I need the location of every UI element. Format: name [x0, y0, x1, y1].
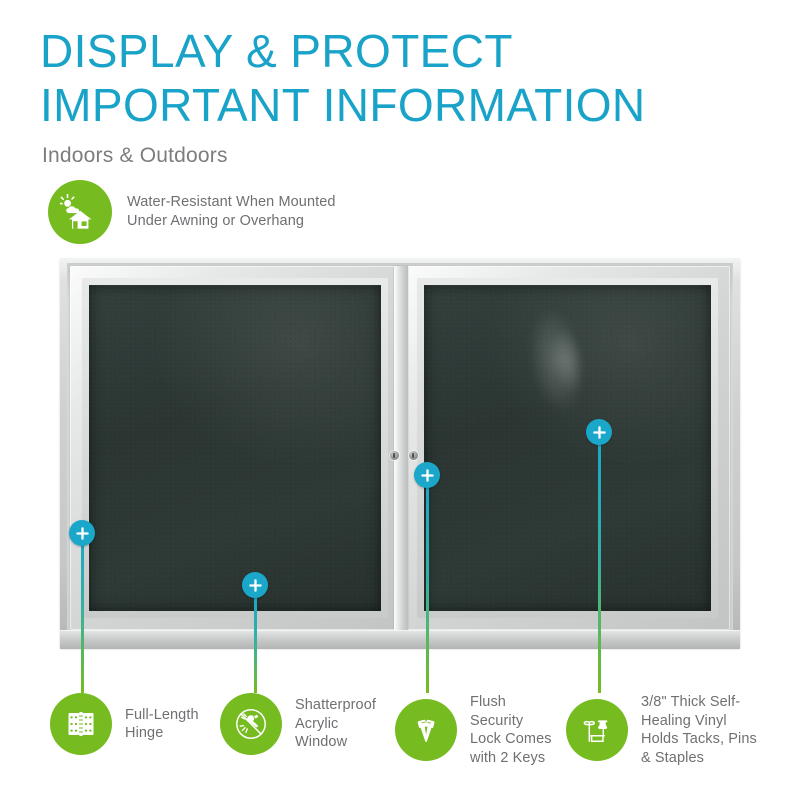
connector-vinyl-surface [598, 445, 601, 693]
two-keys-icon [395, 699, 457, 761]
product-image [60, 258, 740, 648]
lock-line-4: with 2 Keys [470, 749, 552, 768]
hinge-line-2: Hinge [125, 724, 199, 743]
door-left[interactable] [70, 266, 400, 630]
connector-security-lock [426, 487, 429, 693]
lock-cylinder-right[interactable] [409, 451, 418, 460]
door-right[interactable] [405, 266, 730, 630]
door-left-acrylic-window [89, 285, 381, 611]
connector-hinge [81, 533, 84, 693]
water-resistant-line-1: Water-Resistant When Mounted [127, 193, 336, 212]
feature-security-lock: Flush Security Lock Comes with 2 Keys [395, 693, 552, 767]
feature-label-full-length-hinge: Full-Length Hinge [125, 706, 199, 743]
feature-label-self-healing-vinyl: 3/8" Thick Self- Healing Vinyl Holds Tac… [641, 693, 757, 767]
house-sun-icon [48, 180, 112, 244]
infographic-canvas: DISPLAY & PROTECT IMPORTANT INFORMATION … [0, 0, 800, 800]
case-base-rail [60, 630, 740, 649]
hotspot-acrylic-window[interactable] [242, 572, 268, 598]
window-line-1: Shatterproof [295, 696, 376, 715]
window-line-2: Acrylic [295, 715, 376, 734]
feature-label-security-lock: Flush Security Lock Comes with 2 Keys [470, 693, 552, 767]
feature-label-shatterproof-window: Shatterproof Acrylic Window [295, 696, 376, 752]
center-stile [394, 266, 408, 630]
hotspot-vinyl-surface[interactable] [586, 419, 612, 445]
water-resistant-line-2: Under Awning or Overhang [127, 212, 336, 231]
lock-cylinder-left[interactable] [390, 451, 399, 460]
feature-full-length-hinge: Full-Length Hinge [50, 693, 199, 755]
lock-line-1: Flush [470, 693, 552, 712]
water-resistant-badge: Water-Resistant When Mounted Under Awnin… [48, 180, 336, 244]
no-hammer-icon [220, 693, 282, 755]
lock-line-2: Security [470, 712, 552, 731]
water-resistant-label: Water-Resistant When Mounted Under Awnin… [127, 193, 336, 231]
display-case-frame [60, 258, 740, 648]
hinge-icon [50, 693, 112, 755]
page-title: DISPLAY & PROTECT IMPORTANT INFORMATION [40, 24, 740, 132]
vinyl-line-2: Healing Vinyl [641, 712, 757, 731]
hinge-line-1: Full-Length [125, 706, 199, 725]
hotspot-hinge[interactable] [69, 520, 95, 546]
window-line-3: Window [295, 733, 376, 752]
lock-line-3: Lock Comes [470, 730, 552, 749]
subheading: Indoors & Outdoors [42, 143, 228, 169]
feature-self-healing-vinyl: 3/8" Thick Self- Healing Vinyl Holds Tac… [566, 693, 757, 767]
connector-acrylic-window [254, 595, 257, 693]
vinyl-line-1: 3/8" Thick Self- [641, 693, 757, 712]
pushpin-tack-icon [566, 699, 628, 761]
hotspot-security-lock[interactable] [414, 462, 440, 488]
headline-line-1: DISPLAY & PROTECT [40, 24, 740, 78]
feature-shatterproof-window: Shatterproof Acrylic Window [220, 693, 376, 755]
door-right-acrylic-window [424, 285, 711, 611]
vinyl-line-3: Holds Tacks, Pins [641, 730, 757, 749]
vinyl-line-4: & Staples [641, 749, 757, 768]
headline-line-2: IMPORTANT INFORMATION [40, 78, 740, 132]
